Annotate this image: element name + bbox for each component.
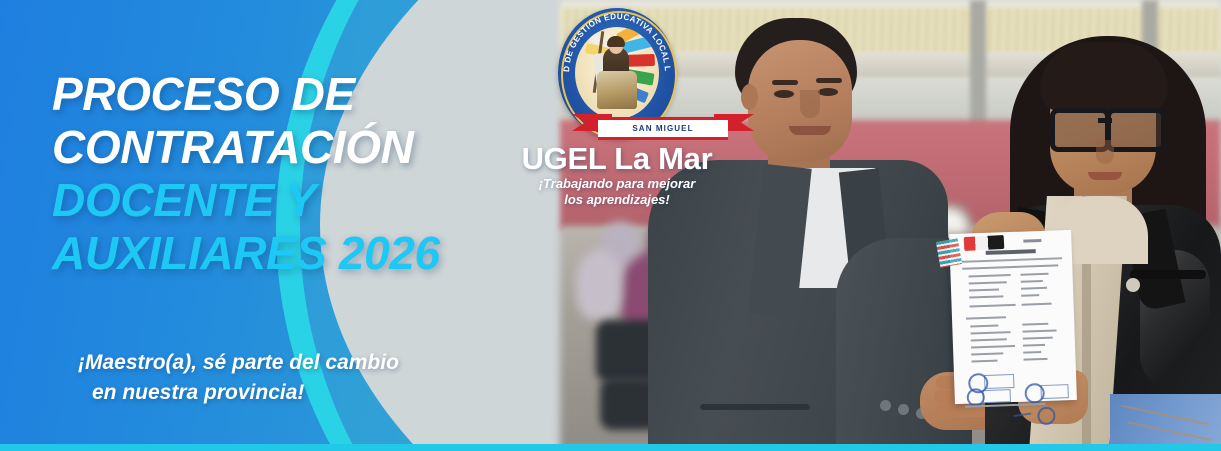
doc-text-line [970, 325, 998, 328]
doc-text-line [966, 316, 1006, 319]
ugel-emblem-icon: UNIDAD DE GESTIÓN EDUCATIVA LOCAL LA MAR… [558, 8, 676, 138]
man-nose [800, 90, 820, 118]
bottom-accent-strip [0, 444, 1221, 451]
ugel-tagline-line-1: ¡Trabajando para mejorar [512, 176, 722, 192]
doc-text-line [1020, 273, 1048, 276]
doc-seal-box [983, 389, 1011, 403]
doc-text-line [969, 288, 999, 291]
doc-text-line [1022, 303, 1052, 306]
woman-hair-fringe [1040, 42, 1168, 112]
doc-text-line [1023, 337, 1053, 340]
headline-line-3: DOCENTE Y [52, 174, 572, 227]
ugel-logo-lockup: UNIDAD DE GESTIÓN EDUCATIVA LOCAL LA MAR… [512, 8, 722, 208]
svg-text:UNIDAD DE GESTIÓN EDUCATIVA LO: UNIDAD DE GESTIÓN EDUCATIVA LOCAL LA MAR [558, 8, 672, 72]
woman-mouth [1088, 172, 1122, 180]
doc-seal-box [984, 374, 1014, 389]
doc-text-line [969, 281, 1007, 284]
ugel-tagline: ¡Trabajando para mejorar los aprendizaje… [512, 176, 722, 208]
doc-text-line [962, 264, 1058, 269]
subheadline: ¡Maestro(a), sé parte del cambio en nues… [78, 348, 558, 408]
man-jacket-pocket [700, 404, 810, 410]
doc-text-line [1022, 323, 1048, 326]
ugel-la-mar-banner: PROCESO DE CONTRATACIÓN DOCENTE Y AUXILI… [0, 0, 1221, 451]
ugel-name: UGEL La Mar [512, 142, 722, 176]
doc-text-line [1021, 280, 1043, 283]
audience-person [576, 250, 622, 320]
doc-text-line [1022, 329, 1056, 332]
headline: PROCESO DE CONTRATACIÓN DOCENTE Y AUXILI… [52, 68, 572, 280]
doc-text-line [1021, 287, 1047, 290]
doc-text-line [971, 338, 1007, 341]
doc-anexo-label [1023, 239, 1041, 243]
headline-line-2: CONTRATACIÓN [52, 121, 572, 174]
ribbon-label: SAN MIGUEL [632, 125, 693, 133]
man-eyebrow [816, 78, 842, 83]
man-jacket-button [880, 400, 891, 411]
headline-line-4: AUXILIARES 2026 [52, 227, 572, 280]
ugel-tagline-line-2: los aprendizajes! [512, 192, 722, 208]
doc-seal-box [1040, 384, 1068, 399]
doc-text-line [1023, 351, 1041, 354]
doc-text-line [971, 331, 1011, 334]
emblem-ribbon: SAN MIGUEL [572, 112, 754, 138]
ribbon-band: SAN MIGUEL [598, 117, 728, 140]
man-ear [741, 84, 758, 110]
man-eye [818, 88, 838, 96]
subheadline-line-1: ¡Maestro(a), sé parte del cambio [78, 348, 558, 378]
doc-text-line [1023, 344, 1045, 347]
doc-text-line [969, 274, 1011, 277]
woman-glasses-bridge [1098, 118, 1112, 123]
venue-pillar [970, 0, 986, 128]
doc-text-line [971, 360, 997, 363]
man-eyebrow [772, 80, 798, 85]
doc-text-line [969, 295, 1003, 298]
man-mouth [789, 126, 831, 135]
headline-line-1: PROCESO DE [52, 68, 572, 121]
woman-nose [1096, 140, 1114, 164]
doc-text-line [970, 304, 1016, 308]
doc-badge-ribbon [936, 238, 962, 267]
doc-divider [960, 257, 1062, 263]
subheadline-line-2: en nuestra provincia! [78, 378, 558, 408]
doc-clip [964, 235, 1005, 251]
woman-glasses-lens [1106, 108, 1166, 152]
doc-title-line [986, 249, 1036, 255]
doc-text-line [1021, 294, 1039, 297]
doc-text-line [971, 352, 1003, 355]
woman-jacket-pocket [1130, 270, 1206, 279]
woman-jacket-button [1126, 278, 1140, 292]
man-eye [774, 90, 794, 98]
man-jacket-button [898, 404, 909, 415]
doc-text-line [1023, 358, 1047, 361]
certificate-document [949, 230, 1077, 404]
doc-text-line [971, 345, 1015, 349]
